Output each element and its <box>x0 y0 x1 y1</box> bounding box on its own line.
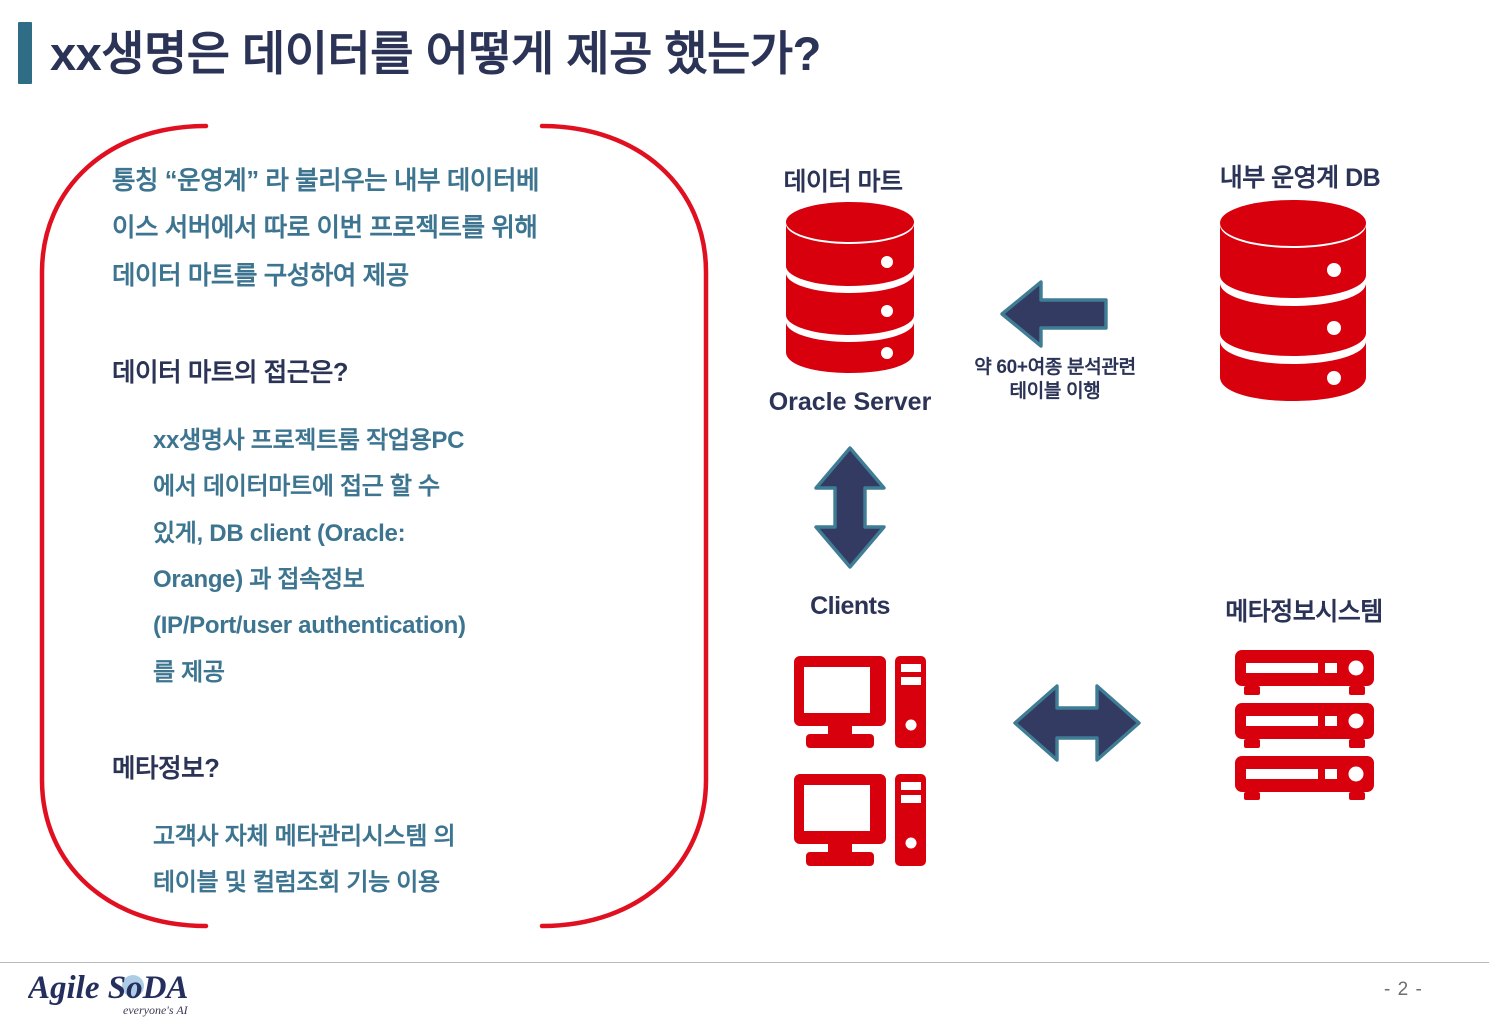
caption-line: 테이블 이행 <box>940 380 1170 404</box>
label-internal-operational-db: 내부 운영계 DB <box>1140 158 1460 194</box>
server-rack-icon <box>1232 648 1377 800</box>
paragraph-line: 데이터 마트를 구성하여 제공 <box>112 253 672 300</box>
sub-list-meta-info: 고객사 자체 메타관리시스템 의 테이블 및 컬럼조회 기능 이용 <box>112 814 672 907</box>
sub-line: xx생명사 프로젝트룸 작업용PC <box>153 418 672 464</box>
spacer <box>112 392 672 418</box>
slide-title-row: xx생명은 데이터를 어떻게 제공 했는가? <box>18 22 821 84</box>
page-title: xx생명은 데이터를 어떻게 제공 했는가? <box>50 30 821 77</box>
slide-canvas: xx생명은 데이터를 어떻게 제공 했는가? 통칭 “운영계” 라 불리우는 내… <box>0 0 1489 1024</box>
paragraph-line: 통칭 “운영계” 라 불리우는 내부 데이터베 <box>112 158 672 205</box>
left-text-column: 통칭 “운영계” 라 불리우는 내부 데이터베 이스 서버에서 따로 이번 프로… <box>112 158 672 906</box>
desktop-computer-icon <box>788 770 928 870</box>
paragraph-line: 이스 서버에서 따로 이번 프로젝트를 위해 <box>112 205 672 252</box>
spacer <box>112 788 672 814</box>
agile-soda-logo: Agile SoDA everyone's AI <box>28 968 228 1020</box>
label-clients: Clients <box>760 592 940 621</box>
label-data-mart: 데이터 마트 <box>728 162 958 198</box>
heading-meta-info: 메타정보? <box>112 752 672 788</box>
caption-table-migration: 약 60+여종 분석관련 테이블 이행 <box>940 356 1170 405</box>
sub-line: 고객사 자체 메타관리시스템 의 <box>153 814 672 860</box>
heading-data-mart-access: 데이터 마트의 접근은? <box>112 356 672 392</box>
logo-tagline: everyone's AI <box>123 1003 189 1017</box>
architecture-diagram: 데이터 마트 Oracle Server 약 60+여종 분석관련 테이블 이행… <box>740 140 1470 900</box>
arrow-left-right-icon <box>1012 682 1142 764</box>
footer-divider <box>0 962 1489 963</box>
sublabel-oracle-server: Oracle Server <box>730 388 970 417</box>
desktop-computer-icon <box>788 652 928 752</box>
sub-line: (IP/Port/user authentication) <box>153 603 672 649</box>
paragraph-operational-system: 통칭 “운영계” 라 불리우는 내부 데이터베 이스 서버에서 따로 이번 프로… <box>112 158 672 300</box>
page-number: - 2 - <box>1384 979 1423 1001</box>
database-cylinder-icon <box>783 200 917 375</box>
spacer <box>112 300 672 356</box>
sub-line: 를 제공 <box>153 650 672 696</box>
caption-line: 약 60+여종 분석관련 <box>940 356 1170 380</box>
title-accent-bar <box>18 22 32 84</box>
logo-wordmark: Agile SoDA <box>28 970 188 1006</box>
arrow-up-down-icon <box>810 445 890 570</box>
sub-line: 테이블 및 컬럼조회 기능 이용 <box>153 860 672 906</box>
sub-line: 있게, DB client (Oracle: <box>153 511 672 557</box>
label-meta-info-system: 메타정보시스템 <box>1144 592 1464 628</box>
arrow-left-icon <box>999 278 1109 350</box>
sub-list-data-mart-access: xx생명사 프로젝트룸 작업용PC 에서 데이터마트에 접근 할 수 있게, D… <box>112 418 672 696</box>
spacer <box>112 696 672 752</box>
database-cylinder-icon <box>1217 198 1369 403</box>
sub-line: 에서 데이터마트에 접근 할 수 <box>153 464 672 510</box>
sub-line: Orange) 과 접속정보 <box>153 557 672 603</box>
